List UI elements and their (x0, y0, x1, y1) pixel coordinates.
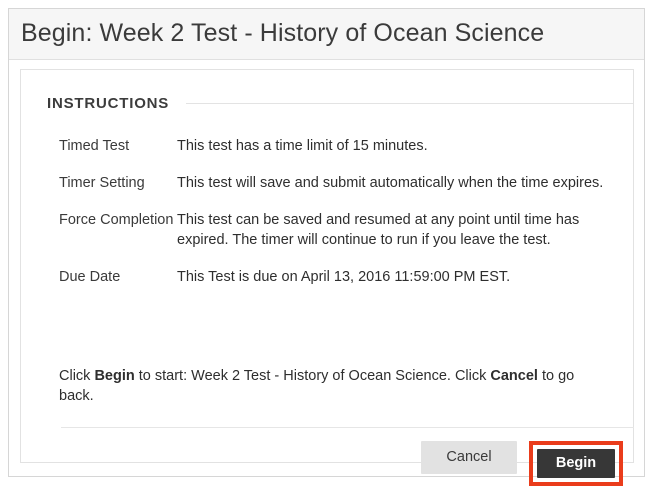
footer-divider (61, 427, 634, 428)
instruction-term: Timed Test (59, 136, 177, 156)
closing-cancel-emphasis: Cancel (490, 368, 538, 384)
begin-test-dialog: Begin: Week 2 Test - History of Ocean Sc… (8, 8, 645, 477)
closing-text-1: Click (59, 368, 94, 384)
closing-paragraph: Click Begin to start: Week 2 Test - Hist… (59, 366, 604, 406)
instructions-section-header: INSTRUCTIONS (47, 92, 633, 114)
list-item: Force Completion This test can be saved … (21, 210, 633, 250)
closing-begin-emphasis: Begin (94, 368, 134, 384)
instruction-term: Force Completion (59, 210, 177, 230)
list-item: Due Date This Test is due on April 13, 2… (21, 267, 633, 287)
list-item: Timed Test This test has a time limit of… (21, 136, 633, 156)
page-title: Begin: Week 2 Test - History of Ocean Sc… (21, 19, 544, 48)
list-item: Timer Setting This test will save and su… (21, 173, 633, 193)
instruction-description: This test will save and submit automatic… (177, 173, 633, 193)
dialog-footer: Cancel Begin (21, 441, 623, 481)
instruction-description: This test has a time limit of 15 minutes… (177, 136, 633, 156)
instruction-term: Timer Setting (59, 173, 177, 193)
instructions-panel: INSTRUCTIONS Timed Test This test has a … (20, 69, 634, 463)
dialog-header: Begin: Week 2 Test - History of Ocean Sc… (9, 9, 644, 60)
closing-text-2: to start: Week 2 Test - History of Ocean… (135, 368, 491, 384)
instruction-term: Due Date (59, 267, 177, 287)
instruction-description: This test can be saved and resumed at an… (177, 210, 633, 250)
cancel-button[interactable]: Cancel (421, 441, 517, 474)
section-title: INSTRUCTIONS (47, 95, 169, 112)
section-divider (186, 103, 633, 104)
instruction-description: This Test is due on April 13, 2016 11:59… (177, 267, 633, 287)
begin-button-highlight: Begin (529, 441, 623, 486)
instructions-list: Timed Test This test has a time limit of… (21, 136, 633, 304)
begin-button[interactable]: Begin (537, 449, 615, 478)
